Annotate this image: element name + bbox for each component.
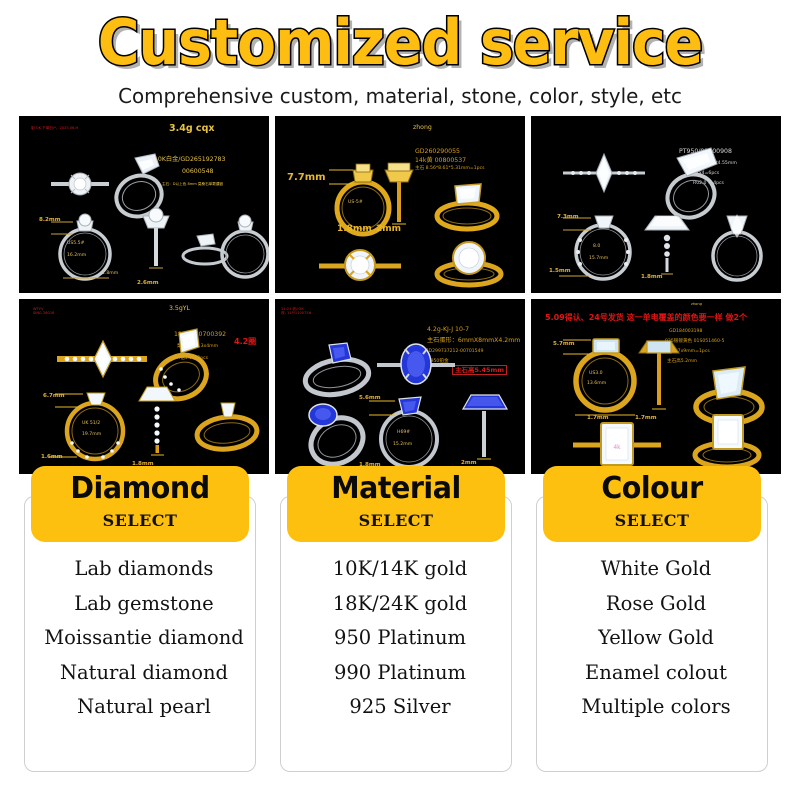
list-item[interactable]: 18K/24K gold <box>281 587 519 622</box>
panel-dim-0: 8.2mm <box>39 217 61 224</box>
panel-badge: 4.2圈 <box>234 337 256 347</box>
panel-dim-2: 19.7mm <box>82 432 101 438</box>
panel-badge: 主石高5.45mm <box>452 365 507 375</box>
panel-code-line-0: 4.2g-KJ-J 10-7 <box>427 326 469 334</box>
panel-code-line-2: 主石 8.56*8.61*5.31mm=1pcs <box>415 166 484 172</box>
panel-code-line-1: 00600548 <box>182 168 214 176</box>
panel-dim-3: US-5# <box>348 200 363 206</box>
panel-weight-label: zhong <box>691 302 702 306</box>
cad-panel-platinum-blue-sapphire-ring[interactable]: 11:21 收/:OK 改: 11P/110075# 4.2g-KJ-J 10-… <box>275 299 525 474</box>
panel-dim-2: 15.7mm <box>589 256 608 262</box>
select-card-diamond[interactable]: Diamond SELECT Lab diamonds Lab gemstone… <box>19 466 269 778</box>
ring-side-profile-icon <box>375 158 423 232</box>
panel-dim-2: 2mm <box>376 224 401 235</box>
cad-photo-grid: 制:OK 下单日/*、2025.06.H 3.4g cqx 10K白金/GD26… <box>19 116 781 474</box>
ring-side-profile-icon <box>131 377 183 463</box>
panel-dim-2: 15.2mm <box>393 442 412 448</box>
panel-dim-1: US5.5# <box>67 241 84 247</box>
cad-panel-gold-pear-pave-ring[interactable]: WTYV SING 26016 3.5gYL 18K黄/C0700392 梨形5… <box>19 299 269 474</box>
card-header-colour[interactable]: Colour SELECT <box>543 466 761 542</box>
list-item[interactable]: Lab diamonds <box>25 552 263 587</box>
panel-dim-3: 1.5mm <box>549 268 571 275</box>
list-item[interactable]: Moissantie diamond <box>25 621 263 656</box>
ring-front-marquise-icon <box>703 204 773 284</box>
panel-dim-0: 7.7mm <box>287 172 326 185</box>
ring-side-profile-icon <box>131 204 181 282</box>
list-item[interactable]: 925 Silver <box>281 690 519 725</box>
card-subtitle: SELECT <box>543 512 761 530</box>
card-header-diamond[interactable]: Diamond SELECT <box>31 466 249 542</box>
panel-dim-4: 2.6mm <box>137 280 159 287</box>
panel-header-note: WTYV SING 26016 <box>33 307 54 316</box>
cad-panel-platinum-marquise-ring[interactable]: PT950/01100908 马槽 15.50*7.67*4.55mm 2x4=… <box>531 116 781 293</box>
card-title: Material <box>292 466 499 512</box>
panel-dim-3: 1.6mm <box>41 454 63 461</box>
card-title: Colour <box>548 466 755 512</box>
panel-dim-0: 6.7mm <box>43 393 65 400</box>
list-item[interactable]: Enamel colout <box>537 656 775 691</box>
panel-dim-0: 5.6mm <box>359 395 381 402</box>
list-item[interactable]: 10K/14K gold <box>281 552 519 587</box>
list-item[interactable]: Rose Gold <box>537 587 775 622</box>
ring-side-profile-icon <box>639 204 695 284</box>
cad-panel-gold-emerald-cut-solitaire[interactable]: zhong 5.09得认、24号发货 这一单电覆盖的颜色要一样 做2个 GD18… <box>531 299 781 474</box>
oval-sapphire-top-view-icon <box>373 337 459 389</box>
option-list-colour: White Gold Rose Gold Yellow Gold Enamel … <box>537 552 775 725</box>
panel-dim-0: 7.3mm <box>557 214 579 221</box>
panel-weight-label: zhong <box>413 124 432 132</box>
page-subtitle: Comprehensive custom, material, stone, c… <box>12 84 788 108</box>
ring-perspective-icon <box>425 174 509 236</box>
list-item[interactable]: White Gold <box>537 552 775 587</box>
panel-dim-1: 8.0 <box>593 244 600 250</box>
card-subtitle: SELECT <box>31 512 249 530</box>
option-list-material: 10K/14K gold 18K/24K gold 950 Platinum 9… <box>281 552 519 725</box>
panel-dim-2: 16.2mm <box>67 253 86 259</box>
card-subtitle: SELECT <box>287 512 505 530</box>
panel-header-note: 11:21 收/:OK 改: 11P/110075# <box>281 307 312 316</box>
panel-dim-1: UK 51/2 <box>82 421 100 427</box>
cad-panel-gold-cushion-solitaire[interactable]: zhong GD260290055 14k黄 00800537 主石 8.56*… <box>275 116 525 293</box>
select-card-material[interactable]: Material SELECT 10K/14K gold 18K/24K gol… <box>275 466 525 778</box>
svg-text:4k: 4k <box>613 444 621 451</box>
list-item[interactable]: Yellow Gold <box>537 621 775 656</box>
list-item[interactable]: Natural diamond <box>25 656 263 691</box>
panel-dim-3: 1.8mm <box>102 271 118 277</box>
customized-service-banner: Customized service Comprehensive custom,… <box>0 0 800 800</box>
panel-dim-1: US3.0 <box>589 371 603 377</box>
panel-header-note: 5.09得认、24号发货 这一单电覆盖的颜色要一样 做2个 <box>545 313 747 323</box>
panel-dim-4: 1.8mm <box>641 274 663 281</box>
cad-panel-white-gold-round-solitaire[interactable]: 制:OK 下单日/*、2025.06.H 3.4g cqx 10K白金/GD26… <box>19 116 269 293</box>
ring-side-profile-icon <box>633 333 685 419</box>
list-item[interactable]: 950 Platinum <box>281 621 519 656</box>
ring-angled-icon <box>187 391 267 457</box>
panel-dim-0: 5.7mm <box>553 341 575 348</box>
card-title: Diamond <box>36 466 243 512</box>
panel-weight-label: 3.4g cqx <box>169 123 215 135</box>
page-title: Customized service <box>0 8 800 78</box>
panel-header-note: 制:OK 下单日/*、2025.06.H <box>31 126 78 130</box>
list-item[interactable]: Natural pearl <box>25 690 263 725</box>
list-item[interactable]: 990 Platinum <box>281 656 519 691</box>
ring-side-profile-icon <box>457 383 513 471</box>
ring-top-view-icon <box>315 244 405 286</box>
option-list-diamond: Lab diamonds Lab gemstone Moissantie dia… <box>25 552 263 725</box>
ring-front-plain-icon <box>217 208 269 286</box>
select-cards-row: Diamond SELECT Lab diamonds Lab gemstone… <box>19 466 781 778</box>
panel-dim-1: 1.8mm <box>337 224 372 235</box>
select-card-colour[interactable]: Colour SELECT White Gold Rose Gold Yello… <box>531 466 781 778</box>
emerald-top-view-icon: 4k <box>569 417 665 467</box>
pear-top-view-icon <box>53 337 151 381</box>
marquise-top-view-icon <box>559 150 649 196</box>
panel-weight-label: 3.5gYL <box>169 305 190 313</box>
ring-angled-emerald-icon <box>681 411 773 471</box>
list-item[interactable]: Lab gemstone <box>25 587 263 622</box>
ring-angled-icon <box>423 238 515 290</box>
panel-dim-2: 13.6mm <box>587 381 606 387</box>
banner-header: Customized service Comprehensive custom,… <box>0 0 800 112</box>
panel-code-line-0: GD260290055 <box>415 148 460 156</box>
panel-dim-1: H69# <box>397 430 410 436</box>
list-item[interactable]: Multiple colors <box>537 690 775 725</box>
card-header-material[interactable]: Material SELECT <box>287 466 505 542</box>
